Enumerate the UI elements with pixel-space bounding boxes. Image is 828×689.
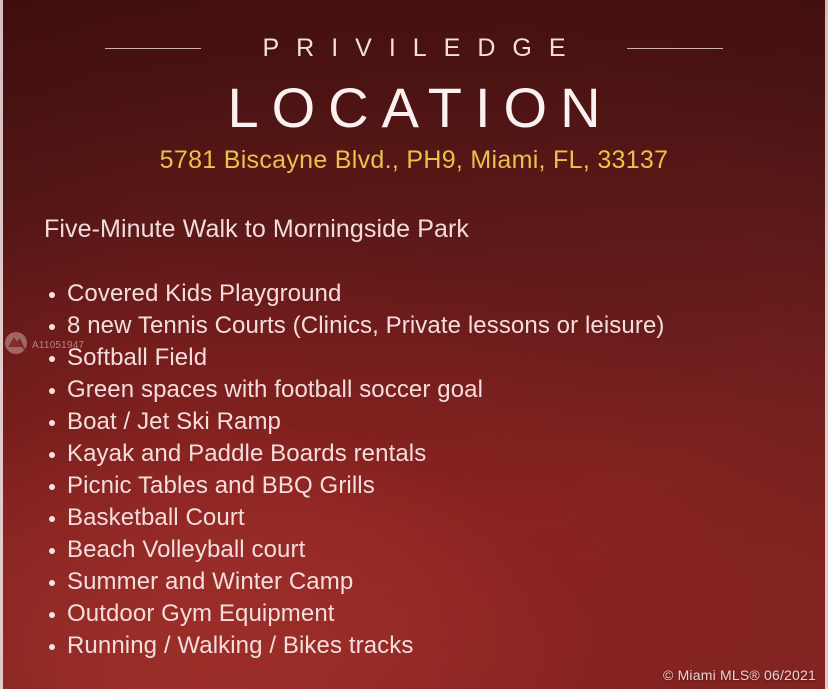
list-item: Kayak and Paddle Boards rentals (44, 438, 808, 470)
list-item: Covered Kids Playground (44, 278, 808, 310)
subtitle-text: Five-Minute Walk to Morningside Park (44, 214, 469, 244)
list-item: Basketball Court (44, 502, 808, 534)
list-item: Picnic Tables and BBQ Grills (44, 470, 808, 502)
list-item: 8 new Tennis Courts (Clinics, Private le… (44, 310, 808, 342)
copyright-notice: © Miami MLS® 06/2021 (663, 667, 816, 683)
list-item: Outdoor Gym Equipment (44, 598, 808, 630)
header-block: PRIVILEDGE LOCATION 5781 Biscayne Blvd.,… (0, 36, 828, 174)
feature-list: Covered Kids Playground 8 new Tennis Cou… (44, 278, 808, 662)
property-address: 5781 Biscayne Blvd., PH9, Miami, FL, 331… (0, 147, 828, 175)
decorative-rule-right-icon (627, 48, 723, 49)
list-item: Boat / Jet Ski Ramp (44, 406, 808, 438)
kicker-text: PRIVILEDGE (245, 36, 582, 61)
list-item: Summer and Winter Camp (44, 566, 808, 598)
list-item: Running / Walking / Bikes tracks (44, 630, 808, 662)
list-item: Green spaces with football soccer goal (44, 374, 808, 406)
kicker-row: PRIVILEDGE (0, 36, 828, 61)
listing-flyer-slide: PRIVILEDGE LOCATION 5781 Biscayne Blvd.,… (0, 0, 828, 689)
list-item: Softball Field (44, 342, 808, 374)
page-title: LOCATION (0, 79, 828, 138)
list-item: Beach Volleyball court (44, 534, 808, 566)
decorative-rule-left-icon (105, 48, 201, 49)
